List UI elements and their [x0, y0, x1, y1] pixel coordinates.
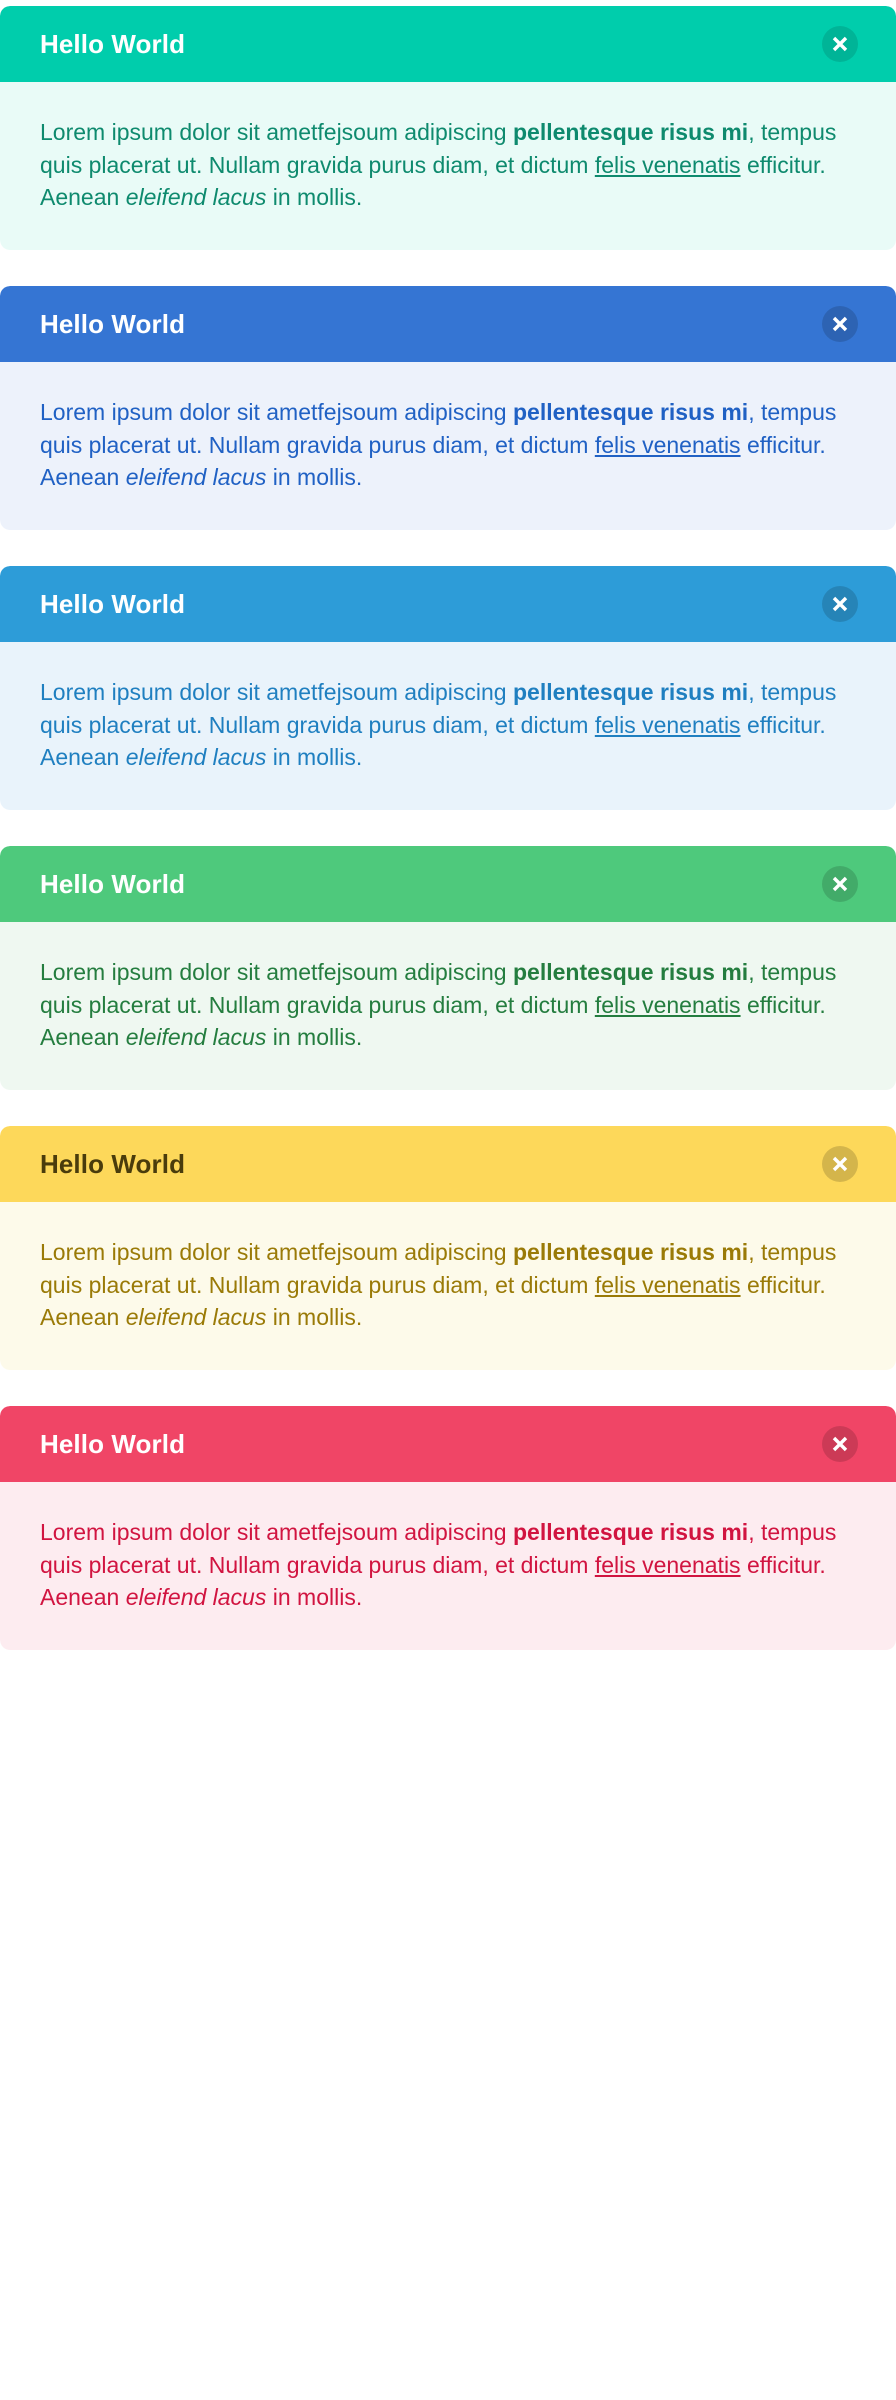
close-button[interactable] — [822, 866, 858, 902]
alert-message-bold: pellentesque risus mi — [513, 399, 748, 425]
alert-card: Hello WorldLorem ipsum dolor sit ametfej… — [0, 846, 896, 1090]
alert-message-italic: eleifend lacus — [126, 464, 267, 490]
alert-message-bold: pellentesque risus mi — [513, 1519, 748, 1545]
alert-card: Hello WorldLorem ipsum dolor sit ametfej… — [0, 1126, 896, 1370]
alert-title: Hello World — [40, 591, 185, 617]
alert-message-italic: eleifend lacus — [126, 1584, 267, 1610]
close-button[interactable] — [822, 1146, 858, 1182]
alert-header: Hello World — [0, 1406, 896, 1482]
alert-header: Hello World — [0, 6, 896, 82]
close-icon — [822, 306, 858, 342]
alert-message-link[interactable]: felis venenatis — [595, 152, 741, 178]
alert-body: Lorem ipsum dolor sit ametfejsoum adipis… — [0, 642, 896, 810]
close-button[interactable] — [822, 1426, 858, 1462]
alert-message-bold: pellentesque risus mi — [513, 959, 748, 985]
alert-message-italic: eleifend lacus — [126, 1304, 267, 1330]
alert-body: Lorem ipsum dolor sit ametfejsoum adipis… — [0, 922, 896, 1090]
alert-card: Hello WorldLorem ipsum dolor sit ametfej… — [0, 286, 896, 530]
alert-title: Hello World — [40, 871, 185, 897]
close-button[interactable] — [822, 586, 858, 622]
alert-message: Lorem ipsum dolor sit ametfejsoum adipis… — [40, 1236, 856, 1334]
alert-message: Lorem ipsum dolor sit ametfejsoum adipis… — [40, 956, 856, 1054]
close-icon — [822, 866, 858, 902]
alert-message: Lorem ipsum dolor sit ametfejsoum adipis… — [40, 116, 856, 214]
alert-message: Lorem ipsum dolor sit ametfejsoum adipis… — [40, 676, 856, 774]
alert-header: Hello World — [0, 286, 896, 362]
alert-message-link[interactable]: felis venenatis — [595, 992, 741, 1018]
alert-header: Hello World — [0, 1126, 896, 1202]
alert-message-italic: eleifend lacus — [126, 1024, 267, 1050]
alert-title: Hello World — [40, 311, 185, 337]
alert-body: Lorem ipsum dolor sit ametfejsoum adipis… — [0, 1482, 896, 1650]
alert-title: Hello World — [40, 1151, 185, 1177]
alert-message-link[interactable]: felis venenatis — [595, 1272, 741, 1298]
alert-body: Lorem ipsum dolor sit ametfejsoum adipis… — [0, 362, 896, 530]
alert-title: Hello World — [40, 1431, 185, 1457]
alert-message-bold: pellentesque risus mi — [513, 1239, 748, 1265]
alert-header: Hello World — [0, 566, 896, 642]
alert-body: Lorem ipsum dolor sit ametfejsoum adipis… — [0, 82, 896, 250]
close-button[interactable] — [822, 26, 858, 62]
alert-message-italic: eleifend lacus — [126, 744, 267, 770]
alert-message-link[interactable]: felis venenatis — [595, 432, 741, 458]
close-icon — [822, 586, 858, 622]
alert-message-bold: pellentesque risus mi — [513, 119, 748, 145]
close-icon — [822, 1146, 858, 1182]
alert-body: Lorem ipsum dolor sit ametfejsoum adipis… — [0, 1202, 896, 1370]
close-icon — [822, 1426, 858, 1462]
alert-message-link[interactable]: felis venenatis — [595, 712, 741, 738]
alert-header: Hello World — [0, 846, 896, 922]
alert-message: Lorem ipsum dolor sit ametfejsoum adipis… — [40, 396, 856, 494]
alert-stack: Hello WorldLorem ipsum dolor sit ametfej… — [0, 6, 896, 1650]
alert-title: Hello World — [40, 31, 185, 57]
close-button[interactable] — [822, 306, 858, 342]
alert-card: Hello WorldLorem ipsum dolor sit ametfej… — [0, 1406, 896, 1650]
close-icon — [822, 26, 858, 62]
alert-message-italic: eleifend lacus — [126, 184, 267, 210]
alert-message-bold: pellentesque risus mi — [513, 679, 748, 705]
alert-message-link[interactable]: felis venenatis — [595, 1552, 741, 1578]
alert-card: Hello WorldLorem ipsum dolor sit ametfej… — [0, 6, 896, 250]
alert-message: Lorem ipsum dolor sit ametfejsoum adipis… — [40, 1516, 856, 1614]
alert-card: Hello WorldLorem ipsum dolor sit ametfej… — [0, 566, 896, 810]
